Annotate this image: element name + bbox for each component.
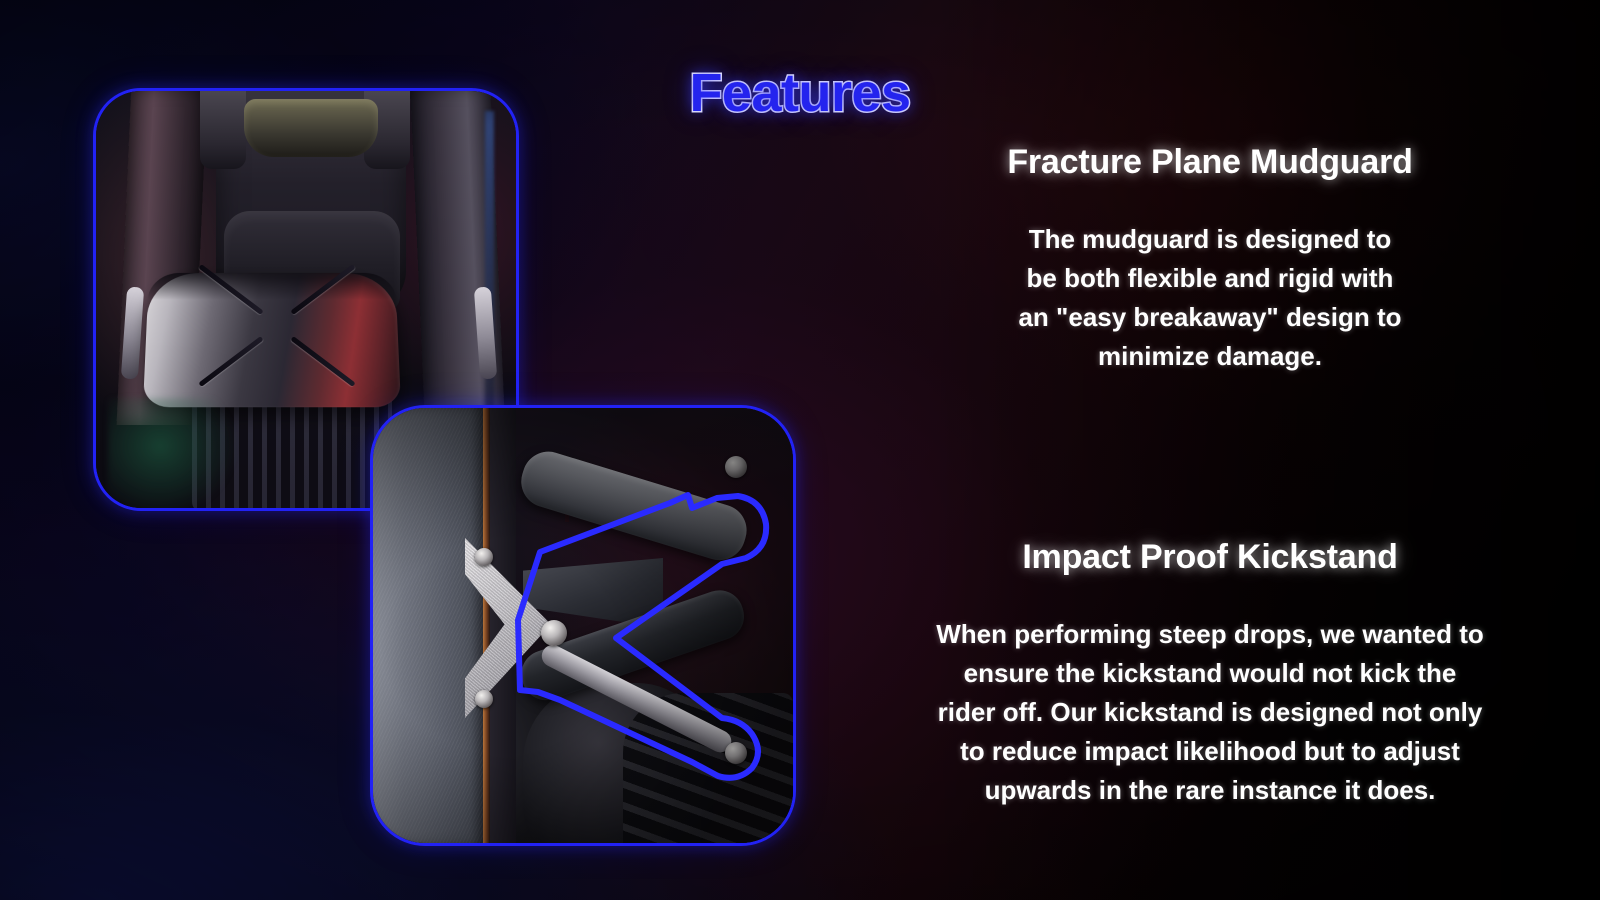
kickstand-photo-art [373,408,793,843]
features-slide: Features [0,0,1600,900]
feature-body-line: an "easy breakaway" design to [880,298,1540,337]
feature-block-kickstand: Impact Proof Kickstand When performing s… [860,538,1560,810]
feature-body-line: upwards in the rare instance it does. [860,771,1560,810]
feature-body-line: be both flexible and rigid with [880,259,1540,298]
feature-body-line: The mudguard is designed to [880,220,1540,259]
feature-body-line: minimize damage. [880,337,1540,376]
feature-body-line: ensure the kickstand would not kick the [860,654,1560,693]
feature-body-kickstand: When performing steep drops, we wanted t… [860,615,1560,810]
feature-title-kickstand: Impact Proof Kickstand [860,538,1560,577]
feature-body-line: to reduce impact likelihood but to adjus… [860,732,1560,771]
feature-body-mudguard: The mudguard is designed to be both flex… [880,220,1540,376]
feature-block-mudguard: Fracture Plane Mudguard The mudguard is … [880,143,1540,376]
feature-title-mudguard: Fracture Plane Mudguard [880,143,1540,182]
kickstand-photo-card[interactable] [370,405,796,846]
feature-body-line: rider off. Our kickstand is designed not… [860,693,1560,732]
feature-body-line: When performing steep drops, we wanted t… [860,615,1560,654]
